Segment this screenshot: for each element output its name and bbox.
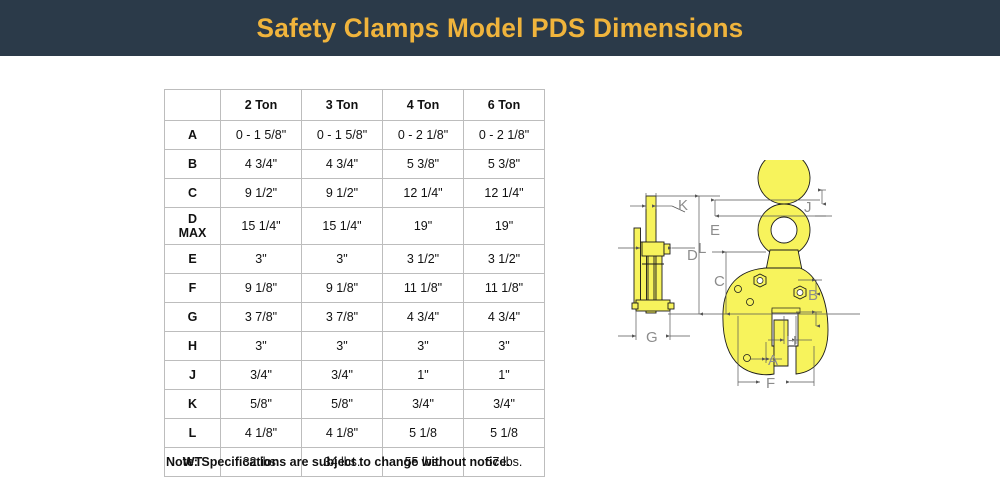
table-note: Note: Specifications are subject to chan… [166, 455, 510, 469]
table-cell: 5 1/8 [464, 419, 545, 448]
clamp-front-view [723, 160, 828, 375]
table-row: J 3/4" 3/4" 1" 1" [165, 361, 545, 390]
table-row: E 3" 3" 3 1/2" 3 1/2" [165, 245, 545, 274]
table-cell: 0 - 1 5/8" [302, 121, 383, 150]
table-cell: 9 1/8" [221, 274, 302, 303]
table-row: K 5/8" 5/8" 3/4" 3/4" [165, 390, 545, 419]
table-cell: 5 3/8" [464, 150, 545, 179]
row-label: J [165, 361, 221, 390]
table-row: D MAX 15 1/4" 15 1/4" 19" 19" [165, 208, 545, 245]
table-row: H 3" 3" 3" 3" [165, 332, 545, 361]
table-cell: 15 1/4" [221, 208, 302, 245]
row-label: F [165, 274, 221, 303]
table-cell: 4 1/8" [302, 419, 383, 448]
table-cell: 1" [464, 361, 545, 390]
table-cell: 5 1/8 [383, 419, 464, 448]
clamp-side-view [632, 196, 674, 313]
dim-label-C: C [714, 273, 725, 290]
dim-label-D: D [687, 247, 698, 264]
table-cell: 3 7/8" [302, 303, 383, 332]
specifications-table-container: 2 Ton 3 Ton 4 Ton 6 Ton A 0 - 1 5/8" 0 -… [164, 89, 544, 477]
table-cell: 12 1/4" [383, 179, 464, 208]
table-cell: 1" [383, 361, 464, 390]
table-row: F 9 1/8" 9 1/8" 11 1/8" 11 1/8" [165, 274, 545, 303]
specifications-table: 2 Ton 3 Ton 4 Ton 6 Ton A 0 - 1 5/8" 0 -… [164, 89, 545, 477]
dim-label-G: G [646, 329, 658, 346]
table-cell: 9 1/2" [221, 179, 302, 208]
table-cell: 19" [383, 208, 464, 245]
table-cell: 3" [302, 332, 383, 361]
table-cell: 19" [464, 208, 545, 245]
table-cell: 11 1/8" [464, 274, 545, 303]
table-cell: 3 1/2" [383, 245, 464, 274]
table-row: G 3 7/8" 3 7/8" 4 3/4" 4 3/4" [165, 303, 545, 332]
table-row: A 0 - 1 5/8" 0 - 1 5/8" 0 - 2 1/8" 0 - 2… [165, 121, 545, 150]
table-header-cell-corner [165, 90, 221, 121]
row-label: G [165, 303, 221, 332]
table-cell: 5/8" [302, 390, 383, 419]
row-label-sub: MAX [165, 226, 220, 240]
table-cell: 3/4" [464, 390, 545, 419]
dim-label-A: A [768, 352, 778, 369]
table-cell: 3 1/2" [464, 245, 545, 274]
table-cell: 0 - 1 5/8" [221, 121, 302, 150]
dim-label-F: F [766, 375, 775, 392]
dim-label-E: E [710, 222, 720, 239]
table-cell: 4 3/4" [383, 303, 464, 332]
table-header-cell-6ton: 6 Ton [464, 90, 545, 121]
row-label: B [165, 150, 221, 179]
table-cell: 3/4" [221, 361, 302, 390]
row-label: K [165, 390, 221, 419]
row-label: L [165, 419, 221, 448]
hex-bolt-upper-left [754, 274, 766, 287]
dim-label-J: J [804, 199, 812, 216]
page-header: Safety Clamps Model PDS Dimensions [0, 0, 1000, 56]
table-cell: 0 - 2 1/8" [464, 121, 545, 150]
table-cell: 5/8" [221, 390, 302, 419]
table-cell: 4 3/4" [302, 150, 383, 179]
table-cell: 3 7/8" [221, 303, 302, 332]
table-header-cell-4ton: 4 Ton [383, 90, 464, 121]
dim-label-K: K [678, 197, 688, 214]
row-label-main: D [188, 212, 197, 226]
table-cell: 3" [221, 245, 302, 274]
table-row: B 4 3/4" 4 3/4" 5 3/8" 5 3/8" [165, 150, 545, 179]
table-cell: 11 1/8" [383, 274, 464, 303]
page-title: Safety Clamps Model PDS Dimensions [257, 13, 744, 44]
table-row: C 9 1/2" 9 1/2" 12 1/4" 12 1/4" [165, 179, 545, 208]
table-cell: 3/4" [383, 390, 464, 419]
table-header-row: 2 Ton 3 Ton 4 Ton 6 Ton [165, 90, 545, 121]
table-cell: 3" [383, 332, 464, 361]
table-header-cell-3ton: 3 Ton [302, 90, 383, 121]
table-cell: 4 3/4" [221, 150, 302, 179]
table-cell: 9 1/2" [302, 179, 383, 208]
clamp-dimension-diagram: .ln { stroke:#1a1a1a; stroke-width:0.9; … [560, 160, 1000, 410]
table-header-cell-2ton: 2 Ton [221, 90, 302, 121]
table-cell: 3/4" [302, 361, 383, 390]
hex-bolt-upper-right [794, 286, 806, 299]
row-label: C [165, 179, 221, 208]
table-cell: 9 1/8" [302, 274, 383, 303]
table-cell: 4 3/4" [464, 303, 545, 332]
table-cell: 3" [302, 245, 383, 274]
table-cell: 15 1/4" [302, 208, 383, 245]
table-cell: 4 1/8" [221, 419, 302, 448]
dim-label-H: H [786, 333, 797, 350]
row-label: E [165, 245, 221, 274]
table-cell: 3" [464, 332, 545, 361]
dim-label-B: B [808, 287, 818, 304]
table-row: L 4 1/8" 4 1/8" 5 1/8 5 1/8 [165, 419, 545, 448]
table-cell: 0 - 2 1/8" [383, 121, 464, 150]
row-label: D MAX [165, 208, 221, 245]
table-cell: 12 1/4" [464, 179, 545, 208]
table-cell: 3" [221, 332, 302, 361]
row-label: A [165, 121, 221, 150]
row-label: H [165, 332, 221, 361]
table-cell: 5 3/8" [383, 150, 464, 179]
